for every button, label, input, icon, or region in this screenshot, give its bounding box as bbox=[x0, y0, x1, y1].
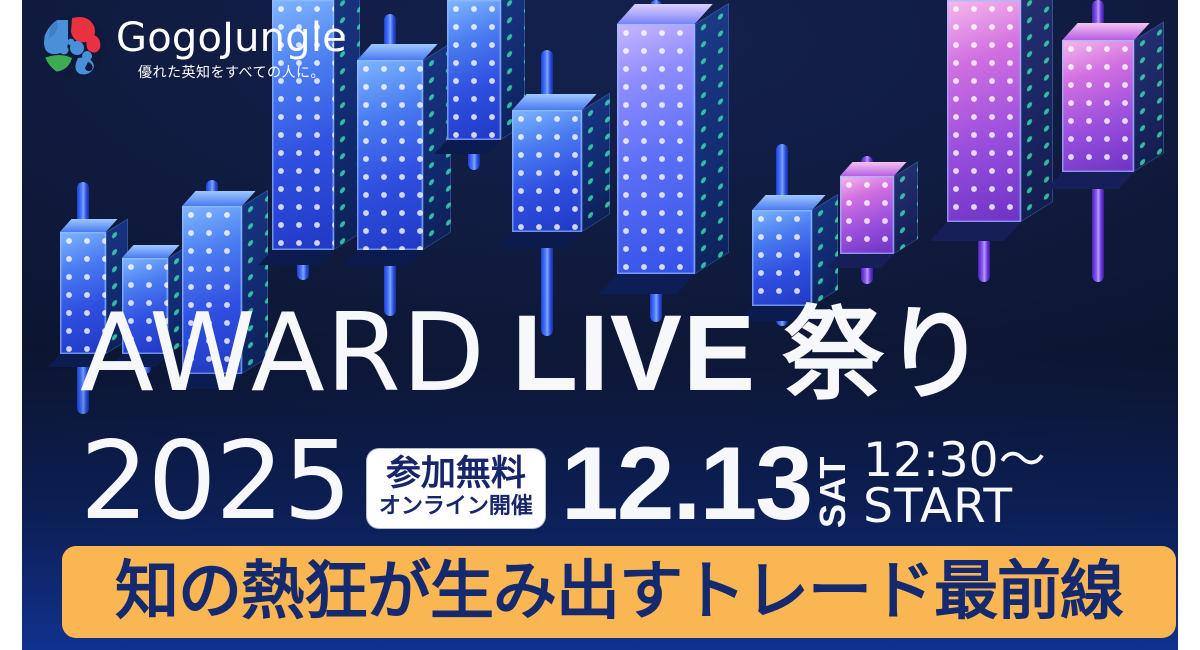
candlestick-body bbox=[947, 0, 1021, 222]
candlestick-bottom-face bbox=[599, 274, 695, 294]
candlestick-bottom-face bbox=[930, 222, 1021, 241]
candlestick-body bbox=[512, 110, 582, 232]
free-entry-badge: 参加無料 オンライン開催 bbox=[367, 449, 545, 528]
candlestick-body bbox=[617, 24, 695, 274]
title-live: LIVE bbox=[512, 301, 756, 405]
brand-tagline: 優れた英知をすべての人に。 bbox=[116, 64, 347, 82]
title-row: AWARD LIVE 祭り bbox=[80, 301, 986, 408]
event-day-of-week: SAT bbox=[815, 436, 851, 528]
candlestick-body bbox=[1062, 40, 1134, 172]
candlestick-front-face bbox=[1062, 40, 1134, 172]
candlestick-body bbox=[752, 210, 812, 306]
side-face-dot-pattern bbox=[582, 93, 610, 232]
candlestick-bottom-face bbox=[434, 140, 501, 154]
event-time: 12:30〜 bbox=[863, 438, 1045, 484]
candlestick-bar bbox=[617, 0, 729, 322]
title-award: AWARD bbox=[80, 302, 486, 406]
candlestick-front-face bbox=[617, 24, 695, 274]
candlestick-body bbox=[840, 176, 894, 254]
candlestick-body bbox=[357, 60, 423, 250]
brand-logo[interactable]: GogoJungle 優れた英知をすべての人に。 bbox=[42, 14, 347, 82]
candlestick-bottom-face bbox=[342, 250, 423, 266]
candlestick-bar bbox=[1062, 0, 1164, 282]
candlestick-bottom-face bbox=[827, 254, 894, 268]
candlestick-bar bbox=[840, 156, 918, 284]
badge-sub-label: オンライン開催 bbox=[379, 494, 533, 520]
candlestick-bar bbox=[357, 14, 451, 316]
candlestick-bottom-face bbox=[497, 232, 582, 248]
side-face-dot-pattern bbox=[894, 161, 918, 254]
brand-wordmark: GogoJungle 優れた英知をすべての人に。 bbox=[116, 14, 347, 82]
candlestick-bar bbox=[947, 0, 1053, 282]
tagline-strip-text: 知の熱狂が生み出すトレード最前線 bbox=[115, 559, 1123, 625]
banner-stage: GogoJungle 優れた英知をすべての人に。 AWARD LIVE 祭り 2… bbox=[22, 0, 1178, 650]
event-time-block: 12:30〜 START bbox=[863, 438, 1045, 530]
candlestick-bottom-face bbox=[1046, 172, 1134, 189]
front-face-dot-pattern bbox=[357, 60, 423, 250]
event-start-label: START bbox=[863, 484, 1013, 530]
candlestick-front-face bbox=[752, 210, 812, 306]
badge-main-label: 参加無料 bbox=[386, 455, 526, 493]
candlestick-side-face bbox=[695, 3, 729, 274]
front-face-dot-pattern bbox=[947, 0, 1021, 222]
brand-name: GogoJungle bbox=[116, 18, 347, 58]
candlestick-front-face bbox=[840, 176, 894, 254]
front-face-dot-pattern bbox=[840, 176, 894, 254]
side-face-dot-pattern bbox=[695, 3, 729, 274]
front-face-dot-pattern bbox=[752, 210, 812, 306]
front-face-dot-pattern bbox=[617, 24, 695, 274]
candlestick-side-face bbox=[1134, 21, 1164, 172]
title-matsuri: 祭り bbox=[782, 304, 986, 408]
event-date: 12.13 bbox=[561, 436, 811, 532]
front-face-dot-pattern bbox=[1062, 40, 1134, 172]
tagline-strip: 知の熱狂が生み出すトレード最前線 bbox=[62, 546, 1176, 638]
candlestick-side-face bbox=[582, 93, 610, 232]
side-face-dot-pattern bbox=[812, 194, 838, 306]
candlestick-side-face bbox=[812, 194, 838, 306]
side-face-dot-pattern bbox=[1134, 21, 1164, 172]
promo-banner: GogoJungle 優れた英知をすべての人に。 AWARD LIVE 祭り 2… bbox=[0, 0, 1200, 650]
candlestick-front-face bbox=[512, 110, 582, 232]
candlestick-bottom-face bbox=[258, 250, 334, 265]
front-face-dot-pattern bbox=[512, 110, 582, 232]
candlestick-front-face bbox=[357, 60, 423, 250]
front-face-dot-pattern bbox=[447, 0, 501, 140]
candlestick-front-face bbox=[947, 0, 1021, 222]
candlestick-front-face bbox=[447, 0, 501, 140]
title-year: 2025 bbox=[80, 432, 351, 532]
gogojungle-mosaic-logo-icon bbox=[42, 14, 106, 78]
candlestick-side-face bbox=[894, 161, 918, 254]
candlestick-body bbox=[447, 0, 501, 140]
date-row: 2025 参加無料 オンライン開催 12.13 SAT 12:30〜 START bbox=[80, 432, 1046, 532]
